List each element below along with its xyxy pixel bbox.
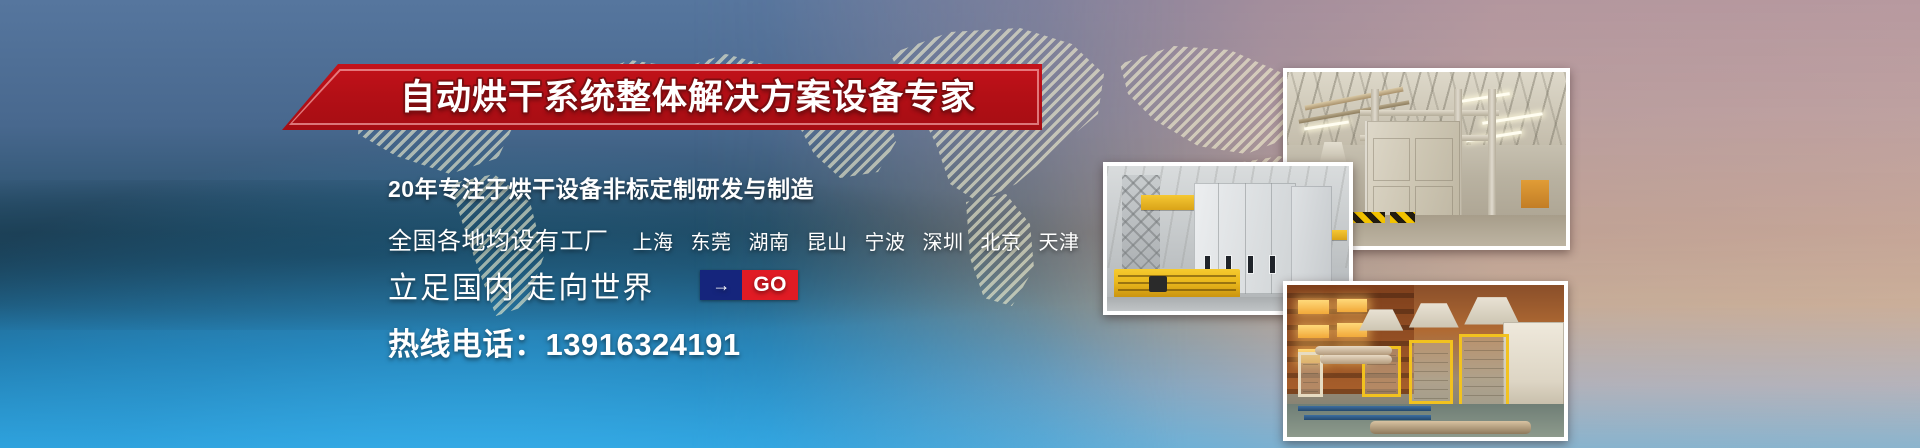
lit-window: [1298, 300, 1328, 314]
years-experience-line: 20年专注于烘干设备非标定制研发与制造: [388, 170, 814, 204]
go-button[interactable]: → GO: [700, 270, 798, 300]
slogan-text: 立足国内 走向世界: [388, 263, 654, 307]
inspection-window: [1247, 255, 1254, 274]
city-item: 东莞: [691, 226, 732, 255]
drying-chamber-secondary: [1291, 186, 1332, 290]
city-item: 宁波: [865, 226, 906, 255]
panel-seam: [1245, 183, 1246, 293]
page-title: 自动烘干系统整体解决方案设备专家: [400, 72, 976, 124]
slogan-line: 立足国内 走向世界 → GO: [388, 263, 798, 307]
cart-control-box: [1149, 276, 1167, 292]
yellow-frame-cage: [1409, 340, 1453, 404]
city-item: 湖南: [749, 226, 790, 255]
unit-canopy: [1409, 303, 1459, 327]
hazard-stripe: [1348, 212, 1384, 223]
steel-truss: [1122, 175, 1161, 282]
copper-pipe: [1370, 421, 1531, 434]
yellow-frame-cage: [1459, 334, 1509, 410]
cart-rail: [1118, 289, 1236, 291]
yellow-transfer-cart: [1114, 269, 1240, 298]
steel-pipe: [1320, 355, 1392, 364]
cart-rail: [1118, 282, 1236, 284]
blue-rail: [1304, 415, 1431, 420]
go-button-label: GO: [742, 270, 798, 300]
lit-window: [1298, 325, 1328, 339]
factories-label: 全国各地均设有工厂: [388, 221, 609, 256]
cart-rail: [1118, 275, 1236, 277]
city-item: 上海: [633, 226, 674, 255]
oven-panel: [1415, 138, 1452, 181]
orange-crane: [1521, 180, 1549, 208]
unit-canopy: [1464, 297, 1519, 324]
city-item: 昆山: [807, 226, 848, 255]
overhead-crane: [1141, 195, 1194, 210]
hotline-line: 热线电话：13916324191: [388, 319, 741, 364]
city-list: 上海 东莞 湖南 昆山 宁波 深圳 北京 天津: [633, 226, 1080, 255]
panel-seam: [1271, 183, 1272, 293]
steel-pipe: [1315, 346, 1393, 355]
oven-panel: [1373, 138, 1410, 181]
steel-beam: [1360, 110, 1500, 116]
city-item: 深圳: [923, 226, 964, 255]
lit-window: [1337, 299, 1367, 313]
arrow-right-icon: →: [700, 270, 742, 300]
photo-content: [1287, 285, 1564, 437]
factories-line: 全国各地均设有工厂 上海 东莞 湖南 昆山 宁波 深圳 北京 天津: [388, 221, 1080, 256]
production-line-photo: [1283, 281, 1568, 441]
city-item: 北京: [981, 226, 1022, 255]
promo-banner: 自动烘干系统整体解决方案设备专家 20年专注于烘干设备非标定制研发与制造 全国各…: [0, 0, 1920, 448]
city-item: 天津: [1039, 226, 1080, 255]
blue-rail: [1298, 406, 1431, 411]
hazard-stripe: [1390, 212, 1415, 223]
oven-module: [1503, 322, 1564, 407]
inspection-window: [1269, 255, 1276, 274]
